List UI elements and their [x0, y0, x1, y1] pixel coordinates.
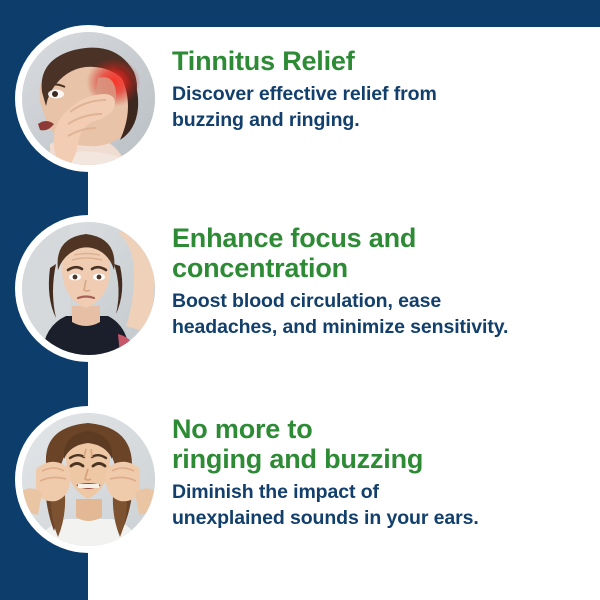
feature-body: Diminish the impact of unexplained sound…: [172, 480, 592, 532]
feature-row: No more to ringing and buzzing Diminish …: [0, 381, 600, 581]
feature-text-block: No more to ringing and buzzing Diminish …: [172, 414, 592, 532]
tinnitus-benefits-infographic: Tinnitus Relief Discover effective relie…: [0, 0, 600, 600]
feature-body: Boost blood circulation, ease headaches,…: [172, 289, 592, 341]
feature-photo-3: [22, 413, 155, 546]
feature-row: Enhance focus and concentration Boost bl…: [0, 190, 600, 390]
feature-heading: No more to ringing and buzzing: [172, 414, 592, 474]
feature-text-block: Enhance focus and concentration Boost bl…: [172, 223, 592, 341]
feature-heading: Enhance focus and concentration: [172, 223, 592, 283]
feature-photo-2: [22, 222, 155, 355]
feature-photo-1: [22, 32, 155, 165]
feature-body: Discover effective relief from buzzing a…: [172, 82, 592, 134]
feature-heading: Tinnitus Relief: [172, 46, 592, 76]
feature-row: Tinnitus Relief Discover effective relie…: [0, 0, 600, 200]
feature-text-block: Tinnitus Relief Discover effective relie…: [172, 46, 592, 134]
